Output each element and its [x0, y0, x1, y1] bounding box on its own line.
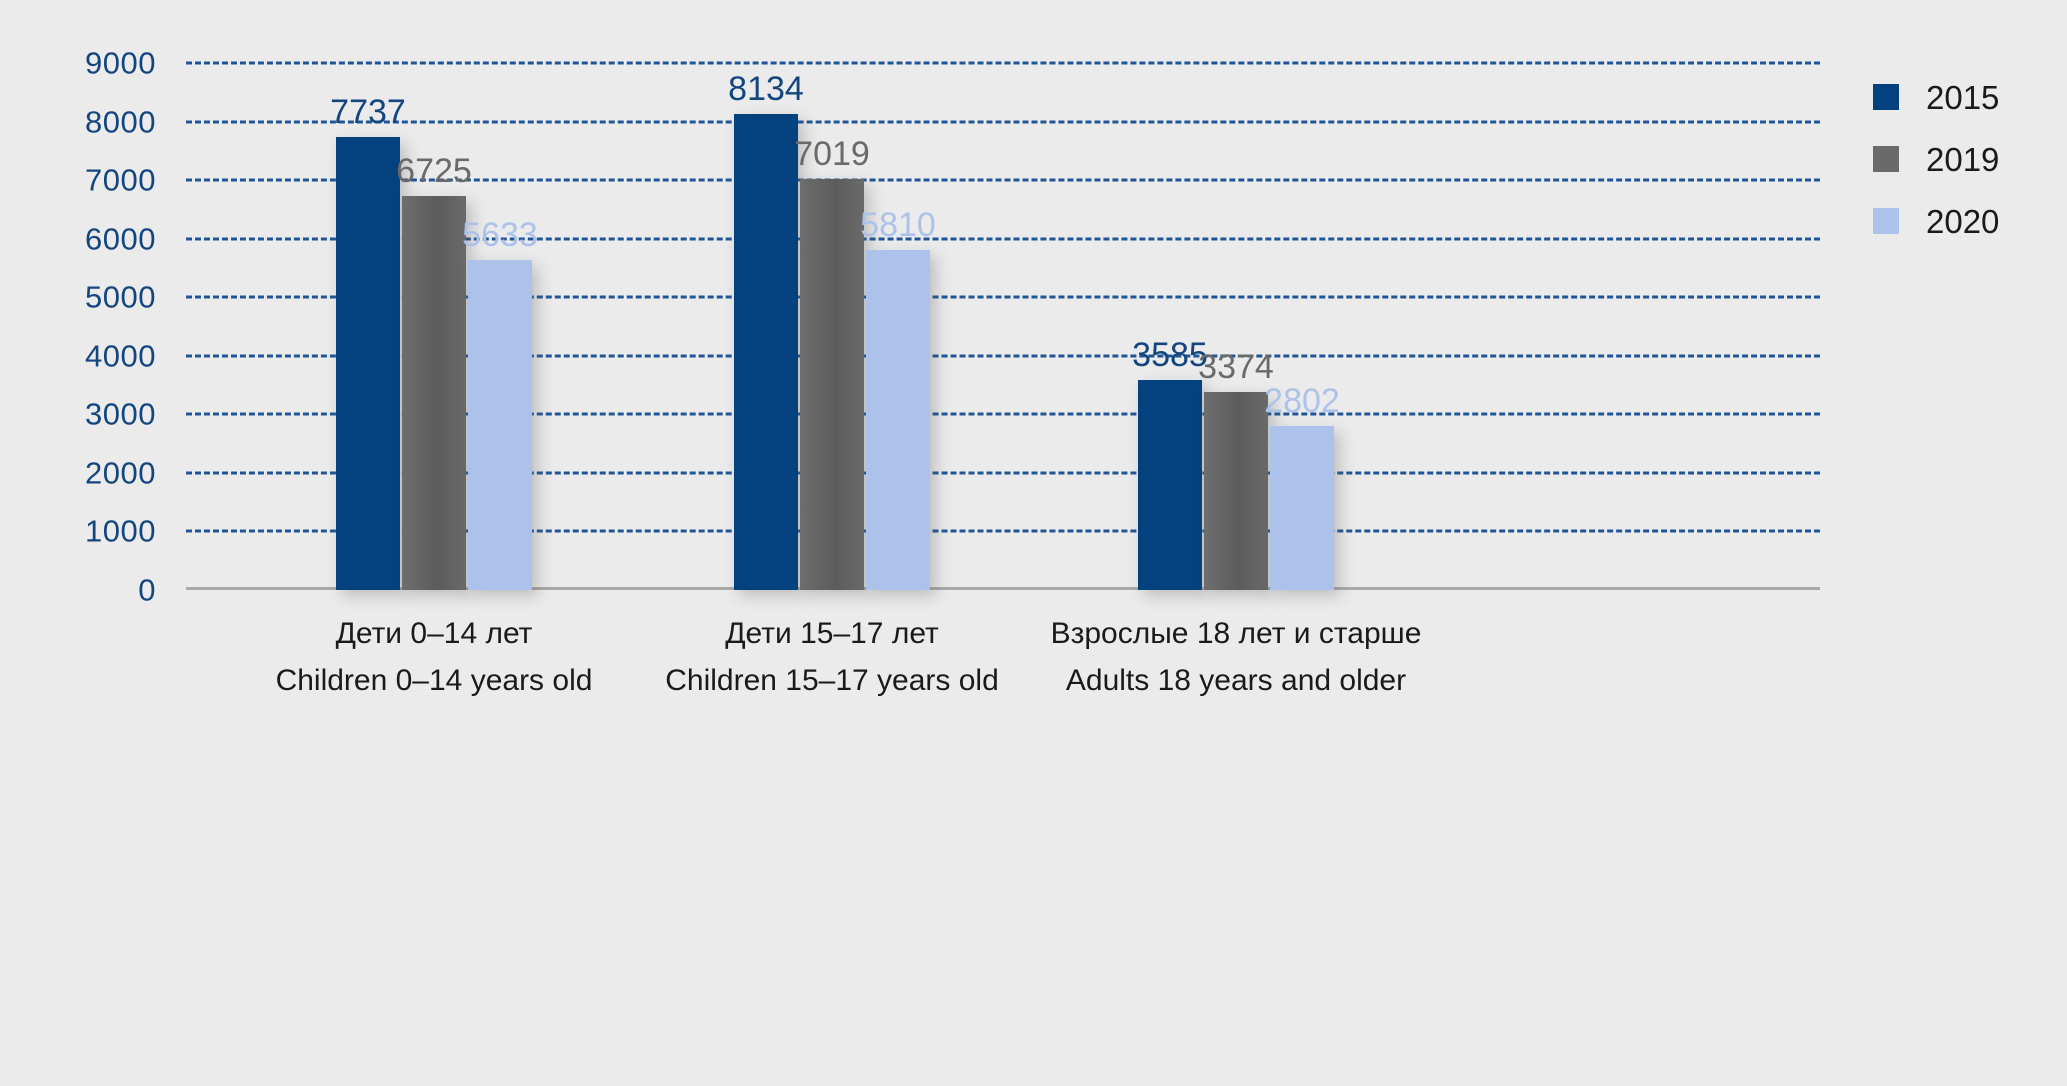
category-label-en: Adults 18 years and older	[836, 657, 1636, 704]
legend-swatch-icon	[1873, 146, 1899, 172]
y-axis-tick-label: 1000	[85, 516, 156, 547]
bar-chart: 9000800070006000500040003000200010000 77…	[0, 0, 2067, 1086]
y-axis-tick-label: 9000	[85, 48, 156, 79]
category-label: Взрослые 18 лет и старшеAdults 18 years …	[836, 610, 1636, 704]
plot-area: 773767255633813470195810358533742802	[186, 63, 1820, 590]
bar-2019-3[interactable]	[1204, 392, 1268, 590]
bar-2015-1[interactable]	[336, 137, 400, 590]
y-axis-tick-label: 2000	[85, 457, 156, 488]
bar-value-label: 5810	[833, 208, 963, 242]
bar-value-label: 5633	[435, 218, 565, 252]
y-axis-tick-label: 7000	[85, 165, 156, 196]
legend-label: 2020	[1926, 205, 1999, 238]
bar-value-label: 8134	[701, 72, 831, 106]
bar-2015-2[interactable]	[734, 114, 798, 590]
y-axis-tick-label: 8000	[85, 106, 156, 137]
y-axis-tick-label: 4000	[85, 340, 156, 371]
bar-2020-1[interactable]	[468, 260, 532, 590]
legend-item-2019[interactable]: 2019	[1873, 128, 1999, 190]
y-axis-tick-label: 0	[138, 575, 156, 606]
legend-label: 2019	[1926, 143, 1999, 176]
bar-group: 358533742802	[1138, 63, 1334, 590]
legend-swatch-icon	[1873, 84, 1899, 110]
y-axis-tick-label: 5000	[85, 282, 156, 313]
bar-2020-3[interactable]	[1270, 426, 1334, 590]
bar-value-label: 7019	[767, 137, 897, 171]
bar-group: 773767255633	[336, 63, 532, 590]
legend-swatch-icon	[1873, 208, 1899, 234]
bar-value-label: 3374	[1171, 350, 1301, 384]
legend-item-2015[interactable]: 2015	[1873, 66, 1999, 128]
bar-value-label: 6725	[369, 154, 499, 188]
y-axis-tick-label: 6000	[85, 223, 156, 254]
bar-value-label: 7737	[303, 95, 433, 129]
category-label-ru: Взрослые 18 лет и старше	[836, 610, 1636, 657]
bar-2015-3[interactable]	[1138, 380, 1202, 590]
bar-value-label: 2802	[1237, 384, 1367, 418]
legend-label: 2015	[1926, 81, 1999, 114]
y-axis-tick-label: 3000	[85, 399, 156, 430]
y-axis: 9000800070006000500040003000200010000	[0, 0, 186, 1086]
bar-2020-2[interactable]	[866, 250, 930, 590]
legend-item-2020[interactable]: 2020	[1873, 190, 1999, 252]
legend: 201520192020	[1873, 66, 1999, 252]
bar-2019-1[interactable]	[402, 196, 466, 590]
bar-group: 813470195810	[734, 63, 930, 590]
